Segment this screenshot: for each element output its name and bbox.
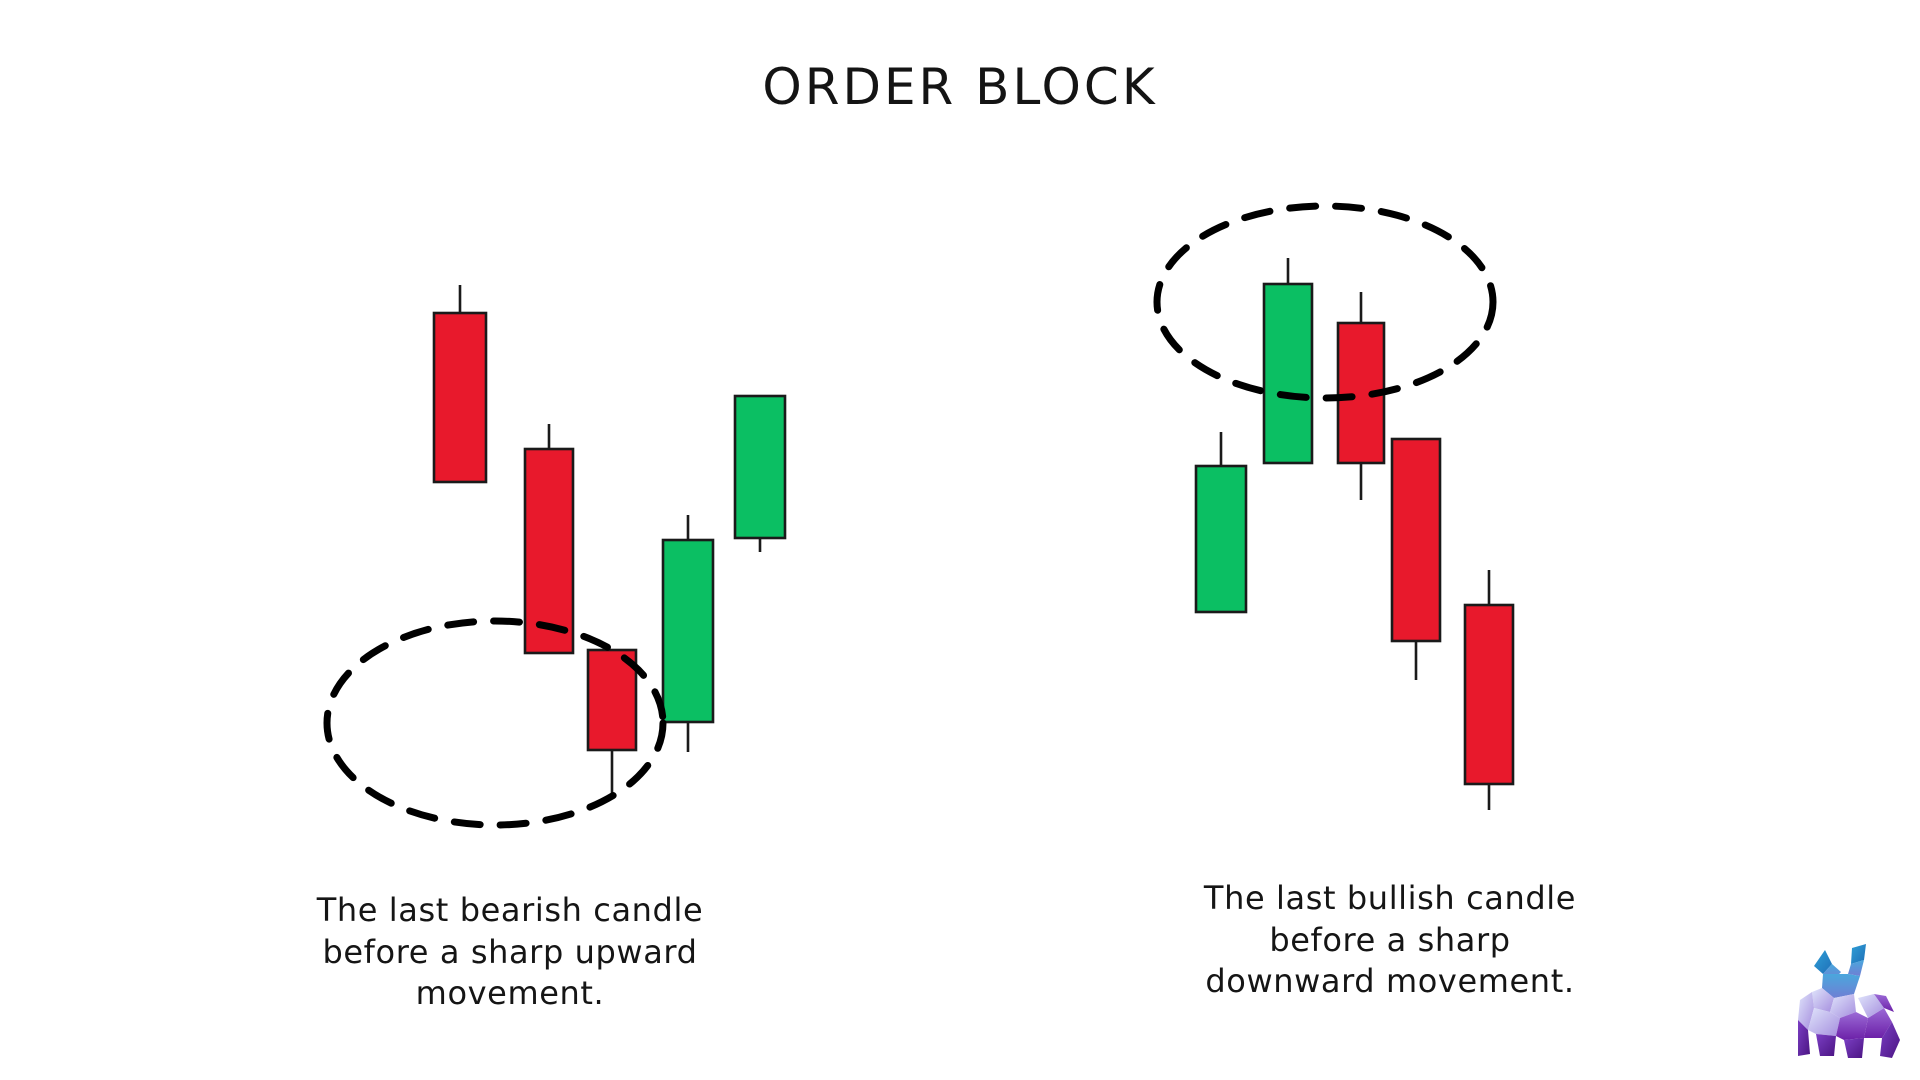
- left-candle-2-bearish: [525, 449, 573, 653]
- left-caption-line-3: movement.: [280, 973, 740, 1015]
- left-candle-5-bullish: [735, 396, 785, 538]
- left-candle-1-bearish: [434, 313, 486, 482]
- page-title: ORDER BLOCK: [0, 58, 1920, 116]
- right-candle-1-bullish: [1196, 466, 1246, 612]
- right-candle-4-bearish: [1392, 439, 1440, 641]
- bearish-order-block-ellipse: [327, 621, 663, 825]
- right-caption: The last bullish candle before a sharp d…: [1160, 878, 1620, 1003]
- left-caption-line-1: The last bearish candle: [280, 890, 740, 932]
- right-candle-3-bearish: [1338, 323, 1384, 463]
- slide-canvas: ORDER BLOCK The last bearish candle befo…: [0, 0, 1920, 1080]
- left-candle-4-bullish: [663, 540, 713, 722]
- right-caption-line-3: downward movement.: [1160, 961, 1620, 1003]
- left-caption: The last bearish candle before a sharp u…: [280, 890, 740, 1015]
- right-caption-line-1: The last bullish candle: [1160, 878, 1620, 920]
- bull-logo: [1792, 938, 1912, 1060]
- right-candle-2-bullish-order-block: [1264, 284, 1312, 463]
- left-caption-line-2: before a sharp upward: [280, 932, 740, 974]
- left-candle-3-bearish-order-block: [588, 650, 636, 750]
- bullish-order-block-ellipse: [1157, 206, 1493, 398]
- right-caption-line-2: before a sharp: [1160, 920, 1620, 962]
- right-candle-5-bearish: [1465, 605, 1513, 784]
